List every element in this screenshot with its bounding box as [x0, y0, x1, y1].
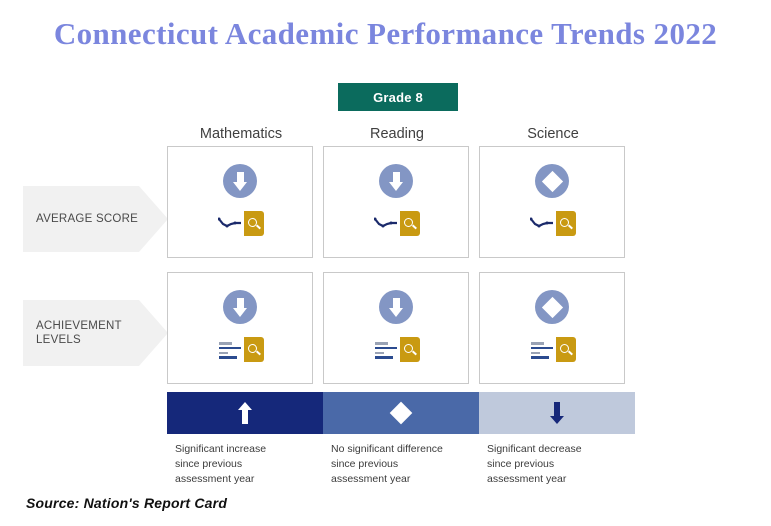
page-title: Connecticut Academic Performance Trends …	[0, 16, 771, 52]
circle-arrow-down-icon	[379, 290, 413, 324]
legend-segment-significant-increase	[167, 392, 323, 434]
magnifier-icon	[244, 337, 264, 362]
line-chart-magnifier-icon[interactable]	[372, 211, 420, 236]
legend-segment-no-significant-difference	[323, 392, 479, 434]
row-label-average-score: AVERAGE SCORE	[23, 186, 168, 252]
legend-caption-significant-decrease: Significant decrease since previous asse…	[487, 442, 637, 487]
magnifier-icon	[400, 211, 420, 236]
line-chart-icon	[216, 211, 244, 236]
legend-caption-no-significant-difference: No significant difference since previous…	[331, 442, 481, 487]
magnifier-icon	[556, 211, 576, 236]
circle-diamond-icon	[535, 164, 569, 198]
column-header-mathematics: Mathematics	[167, 124, 315, 144]
cell-average-score-science[interactable]	[479, 146, 625, 258]
diamond-icon	[390, 402, 413, 425]
arrow-up-icon	[236, 402, 254, 424]
cell-achievement-levels-reading[interactable]	[323, 272, 469, 384]
cell-average-score-reading[interactable]	[323, 146, 469, 258]
bar-chart-magnifier-icon[interactable]	[528, 337, 576, 362]
circle-arrow-down-icon	[223, 290, 257, 324]
row-label-achievement-levels: ACHIEVEMENT LEVELS	[23, 300, 168, 366]
circle-arrow-down-icon	[379, 164, 413, 198]
bar-chart-glyph	[219, 342, 243, 361]
legend-segment-significant-decrease	[479, 392, 635, 434]
magnifier-icon	[556, 337, 576, 362]
line-chart-icon	[528, 211, 556, 236]
column-header-reading: Reading	[323, 124, 471, 144]
cell-achievement-levels-mathematics[interactable]	[167, 272, 313, 384]
magnifier-icon	[244, 211, 264, 236]
row-label-text: AVERAGE SCORE	[23, 212, 138, 226]
arrow-down-icon	[548, 402, 566, 424]
bar-chart-magnifier-icon[interactable]	[372, 337, 420, 362]
circle-diamond-icon	[535, 290, 569, 324]
cell-average-score-mathematics[interactable]	[167, 146, 313, 258]
bar-chart-glyph	[375, 342, 399, 361]
magnifier-icon	[400, 337, 420, 362]
bar-chart-magnifier-icon[interactable]	[216, 337, 264, 362]
line-chart-glyph	[530, 217, 555, 229]
bar-chart-glyph	[531, 342, 555, 361]
row-label-text: ACHIEVEMENT LEVELS	[23, 319, 122, 347]
line-chart-glyph	[374, 217, 399, 229]
circle-arrow-down-icon	[223, 164, 257, 198]
line-chart-magnifier-icon[interactable]	[216, 211, 264, 236]
grade-badge[interactable]: Grade 8	[338, 83, 458, 111]
source-note: Source: Nation's Report Card	[26, 495, 227, 511]
legend-caption-significant-increase: Significant increase since previous asse…	[175, 442, 325, 487]
line-chart-magnifier-icon[interactable]	[528, 211, 576, 236]
column-header-science: Science	[479, 124, 627, 144]
line-chart-glyph	[218, 217, 243, 229]
line-chart-icon	[372, 211, 400, 236]
bar-chart-icon	[372, 337, 400, 362]
bar-chart-icon	[216, 337, 244, 362]
grade-badge-label: Grade 8	[373, 90, 423, 105]
cell-achievement-levels-science[interactable]	[479, 272, 625, 384]
bar-chart-icon	[528, 337, 556, 362]
